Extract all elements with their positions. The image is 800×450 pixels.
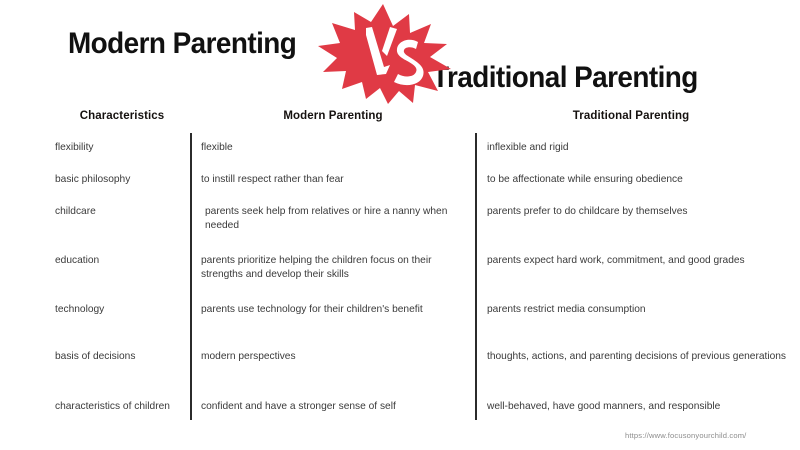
starburst-shape bbox=[318, 4, 451, 104]
table-row: parents restrict media consumption bbox=[487, 303, 787, 317]
table-row: characteristics of children bbox=[55, 400, 183, 414]
table-row: to instill respect rather than fear bbox=[201, 173, 469, 187]
table-row: parents use technology for their childre… bbox=[201, 303, 469, 317]
table-row: confident and have a stronger sense of s… bbox=[201, 400, 469, 414]
column-header-modern-parenting: Modern Parenting bbox=[283, 110, 382, 122]
table-row: parents seek help from relatives or hire… bbox=[205, 205, 473, 232]
column-divider-right bbox=[475, 133, 477, 420]
column-header-traditional-parenting: Traditional Parenting bbox=[573, 110, 689, 122]
title-band: Modern Parenting Traditional Parenting bbox=[0, 0, 800, 100]
column-header-characteristics: Characteristics bbox=[80, 110, 165, 122]
table-row: childcare bbox=[55, 205, 183, 219]
table-row: parents prioritize helping the children … bbox=[201, 254, 469, 281]
table-row: flexibility bbox=[55, 141, 183, 155]
table-row: flexible bbox=[201, 141, 469, 155]
title-modern-parenting: Modern Parenting bbox=[68, 27, 296, 61]
table-row: modern perspectives bbox=[201, 350, 469, 364]
table-row: education bbox=[55, 254, 183, 268]
comparison-table: Characteristics Modern Parenting Traditi… bbox=[0, 100, 800, 430]
vs-starburst-icon bbox=[314, 2, 458, 106]
table-row: well-behaved, have good manners, and res… bbox=[487, 400, 787, 414]
table-row: basis of decisions bbox=[55, 350, 183, 364]
table-row: technology bbox=[55, 303, 183, 317]
source-url: https://www.focusonyourchild.com/ bbox=[625, 431, 746, 440]
table-row: inflexible and rigid bbox=[487, 141, 787, 155]
table-row: parents prefer to do childcare by themse… bbox=[487, 205, 787, 219]
table-row: parents expect hard work, commitment, an… bbox=[487, 254, 787, 268]
table-row: basic philosophy bbox=[55, 173, 183, 187]
table-row: thoughts, actions, and parenting decisio… bbox=[487, 350, 787, 364]
title-traditional-parenting: Traditional Parenting bbox=[432, 61, 698, 95]
column-divider-left bbox=[190, 133, 192, 420]
table-row: to be affectionate while ensuring obedie… bbox=[487, 173, 787, 187]
